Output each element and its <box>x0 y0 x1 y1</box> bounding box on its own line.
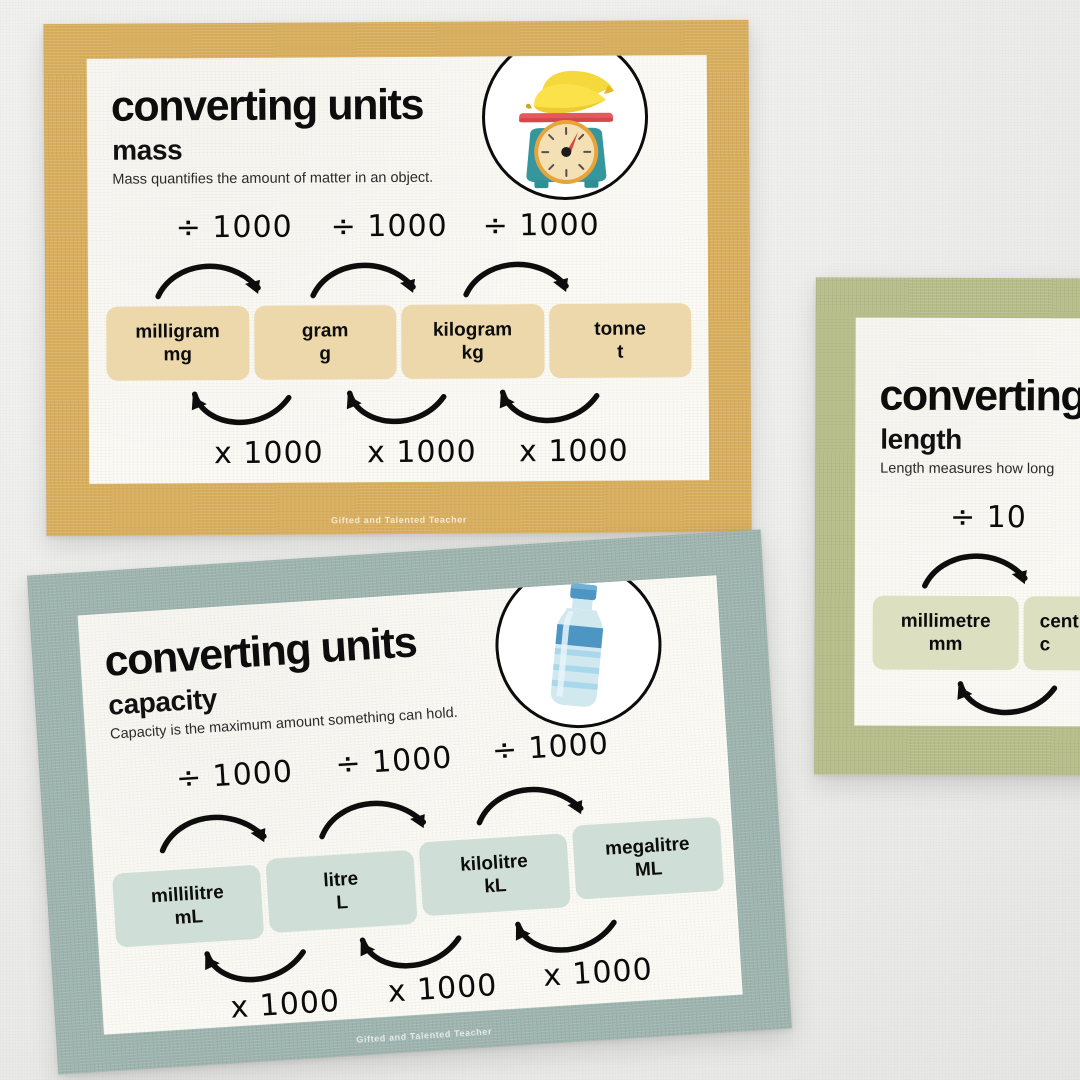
unit-chip-litre[interactable]: litre L <box>265 850 417 933</box>
poster-capacity-subtitle: capacity <box>107 685 217 720</box>
unit-name: gram <box>302 319 349 342</box>
watermark-mass: Gifted and Talented Teacher <box>46 513 751 527</box>
poster-length-description: Length measures how long <box>880 461 1054 478</box>
poster-capacity[interactable]: converting units capacity Capacity is th… <box>27 529 792 1074</box>
length-multiply-label-1: x 10 <box>988 726 1058 727</box>
unit-name: milligram <box>135 320 220 344</box>
capacity-divide-label-1: ÷ 1000 <box>175 754 294 796</box>
mass-multiply-label-3: x 1000 <box>519 434 629 470</box>
unit-chip-tonne[interactable]: tonne t <box>549 303 692 378</box>
capacity-multiply-label-2: x 1000 <box>387 968 499 1010</box>
unit-chip-millilitre[interactable]: millilitre mL <box>112 865 264 948</box>
poster-mass-description: Mass quantifies the amount of matter in … <box>112 170 433 188</box>
unit-symbol: t <box>617 341 623 364</box>
unit-symbol: mg <box>163 343 192 366</box>
mass-divide-label-1: ÷ 1000 <box>176 210 293 246</box>
length-divide-label-1: ÷ 10 <box>950 500 1027 535</box>
poster-mass-subtitle: mass <box>112 136 182 164</box>
length-bottom-arrows <box>944 674 1080 727</box>
poster-length-subtitle: length <box>880 426 962 454</box>
unit-name: kilogram <box>433 318 512 342</box>
unit-symbol: kL <box>484 874 508 899</box>
poster-length-sheet: converting length Length measures how lo… <box>854 318 1080 727</box>
mass-divide-label-2: ÷ 1000 <box>331 209 448 245</box>
unit-symbol: mm <box>929 633 963 656</box>
unit-chip-millimetre[interactable]: millimetre mm <box>872 596 1018 671</box>
unit-chip-kilogram[interactable]: kilogram kg <box>401 304 544 379</box>
unit-symbol: L <box>336 891 349 915</box>
mass-divide-label-3: ÷ 1000 <box>483 208 600 244</box>
poster-capacity-sheet: converting units capacity Capacity is th… <box>78 575 743 1034</box>
mass-multiply-label-2: x 1000 <box>367 435 477 471</box>
capacity-divide-label-2: ÷ 1000 <box>334 740 453 782</box>
unit-chip-milligram[interactable]: milligram mg <box>106 306 249 381</box>
poster-capacity-title: converting units <box>103 622 417 683</box>
unit-name: millilitre <box>150 881 224 909</box>
unit-name: millimetre <box>901 610 991 633</box>
unit-name: litre <box>323 867 359 892</box>
water-bottle-icon <box>490 575 666 733</box>
capacity-multiply-label-3: x 1000 <box>542 952 654 994</box>
unit-chip-kilolitre[interactable]: kilolitre kL <box>419 833 571 916</box>
unit-symbol: g <box>319 342 331 365</box>
poster-mass-sheet: converting units mass Mass quantifies th… <box>87 55 710 484</box>
kitchen-scale-with-bananas-icon <box>482 55 649 200</box>
unit-name: kilolitre <box>460 850 529 877</box>
poster-mass-title: converting units <box>111 85 423 128</box>
unit-symbol: c <box>1040 633 1051 656</box>
unit-name: tonne <box>594 317 646 340</box>
unit-chip-centimetre[interactable]: cent c <box>1023 596 1080 671</box>
poster-mass[interactable]: converting units mass Mass quantifies th… <box>43 20 751 536</box>
unit-chip-gram[interactable]: gram g <box>254 305 397 380</box>
poster-length-title: converting <box>879 376 1080 418</box>
unit-name: megalitre <box>604 832 690 860</box>
capacity-units-row: millilitre mL litre L kilolitre kL megal… <box>111 828 725 948</box>
length-units-row: millimetre mm cent c <box>872 596 1080 671</box>
unit-symbol: mL <box>174 905 204 930</box>
poster-length[interactable]: converting length Length measures how lo… <box>814 277 1080 775</box>
capacity-divide-label-3: ÷ 1000 <box>491 726 610 768</box>
unit-chip-megalitre[interactable]: megalitre ML <box>572 817 724 900</box>
unit-symbol: kg <box>462 341 484 364</box>
mass-multiply-label-1: x 1000 <box>214 435 324 471</box>
unit-symbol: ML <box>634 857 663 882</box>
unit-name: cent <box>1040 610 1079 633</box>
capacity-multiply-label-1: x 1000 <box>229 984 341 1026</box>
mass-top-arrows <box>148 243 668 306</box>
mass-units-row: milligram mg gram g kilogram kg tonne t <box>106 303 691 381</box>
length-top-arrows <box>915 536 1080 597</box>
